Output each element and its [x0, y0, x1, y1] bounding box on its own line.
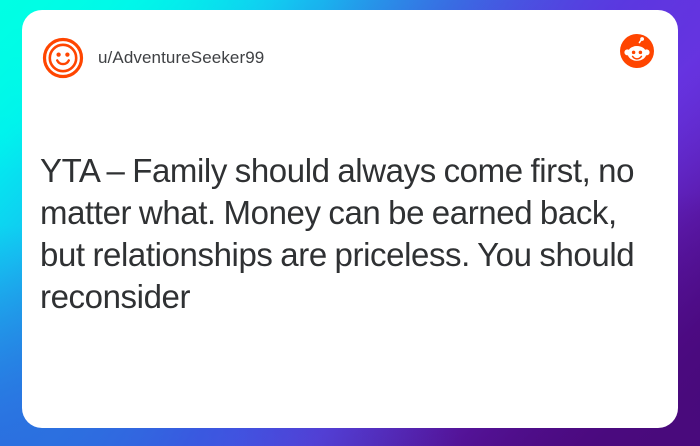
screenshot-stage: u/AdventureSeeker99 — [0, 0, 700, 446]
reddit-snoo-icon[interactable] — [620, 34, 654, 68]
comment-text: YTA – Family should always come first, n… — [40, 150, 660, 318]
reddit-comment-card: u/AdventureSeeker99 — [22, 10, 678, 428]
smiley-face-avatar-icon[interactable] — [42, 37, 84, 79]
username-label: u/AdventureSeeker99 — [98, 48, 264, 68]
comment-header: u/AdventureSeeker99 — [42, 30, 658, 86]
